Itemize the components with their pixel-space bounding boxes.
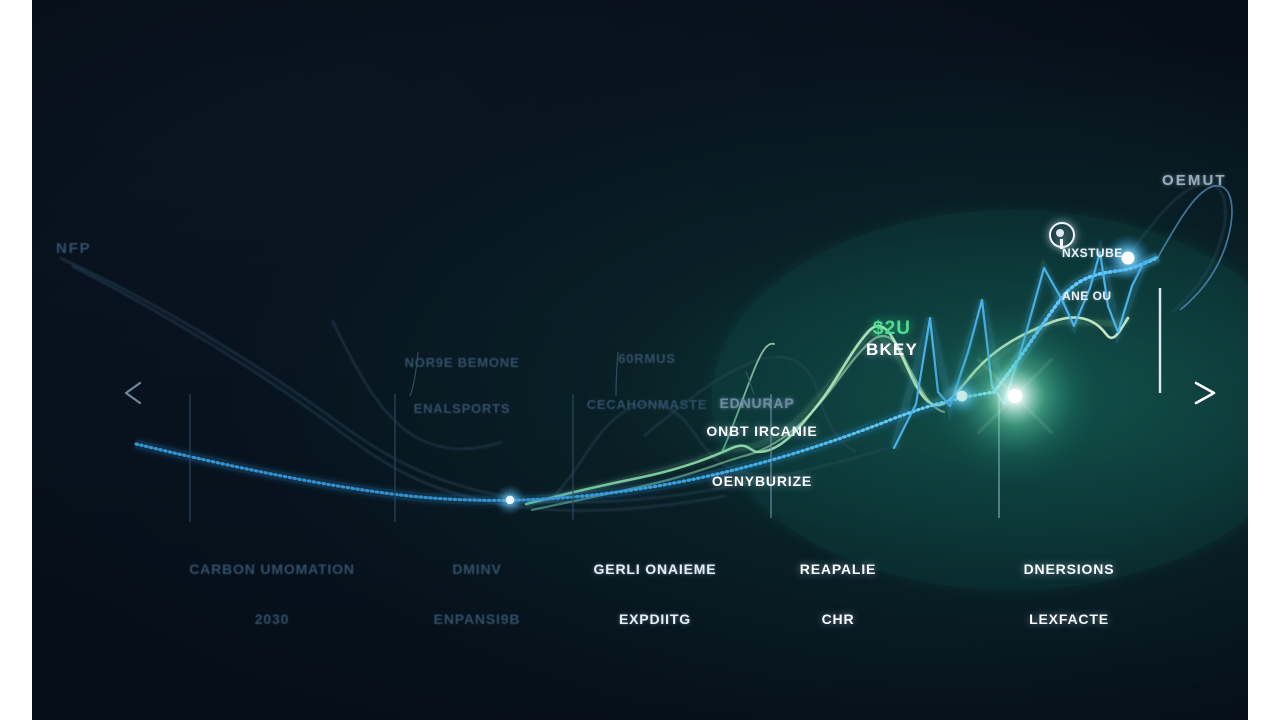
callout-line-bormus (616, 352, 618, 396)
flare-core (1008, 389, 1022, 403)
node-left (506, 496, 514, 504)
faint-descending-curve-b (72, 266, 726, 511)
magnifier-pin-icon-stem (1060, 239, 1063, 249)
chart-canvas: NFP OEMUT NOR9E BEMONE ENALSPORTS 60RMUS… (32, 0, 1248, 720)
visualization-stage: NFP OEMUT NOR9E BEMONE ENALSPORTS 60RMUS… (0, 0, 1280, 720)
chart-graphics-layer (32, 0, 1248, 720)
faint-upper-arc (332, 320, 502, 449)
node-apex (1122, 252, 1135, 265)
magnifier-pin-icon-dot (1056, 229, 1064, 237)
magnifier-pin-icon[interactable] (1049, 222, 1075, 248)
callout-line-norge (410, 352, 418, 396)
